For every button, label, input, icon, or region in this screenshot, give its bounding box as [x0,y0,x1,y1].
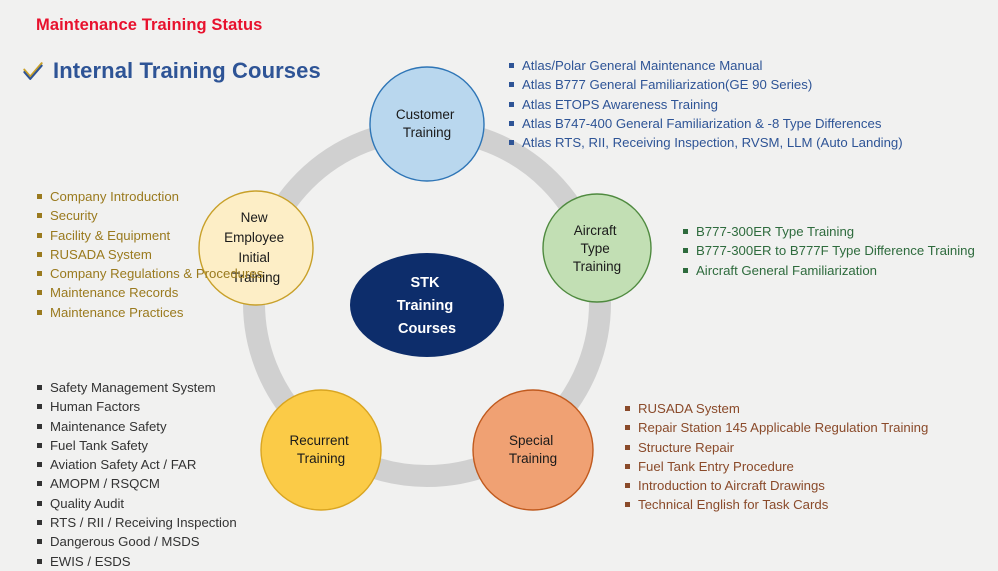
list-aircraft-type-training: B777-300ER Type Training B777-300ER to B… [682,222,975,280]
list-item: Company Introduction [36,187,263,206]
list-item: Quality Audit [36,494,237,513]
list-item: Company Regulations & Procedures [36,264,263,283]
list-item: AMOPM / RSQCM [36,474,237,493]
list-item: Facility & Equipment [36,226,263,245]
list-item: Atlas RTS, RII, Receiving Inspection, RV… [508,133,903,152]
list-item: Safety Management System [36,378,237,397]
section-title-text: Internal Training Courses [53,58,321,84]
list-item: Introduction to Aircraft Drawings [624,476,928,495]
list-item: Aircraft General Familiarization [682,261,975,280]
list-new-employee-initial-training: Company Introduction Security Facility &… [36,187,263,322]
list-item: Human Factors [36,397,237,416]
list-item: RUSADA System [624,399,928,418]
node-customer-training[interactable]: Customer Training [370,67,484,181]
list-item: RUSADA System [36,245,263,264]
list-item: Atlas B777 General Familiarization(GE 90… [508,75,903,94]
list-item: Atlas/Polar General Maintenance Manual [508,56,903,75]
list-item: Atlas B747-400 General Familiarization &… [508,114,903,133]
list-item: Maintenance Records [36,283,263,302]
node-aircraft-type-training[interactable]: Aircraft Type Training [543,194,651,302]
list-item: Fuel Tank Safety [36,436,237,455]
list-item: Maintenance Practices [36,303,263,322]
list-item: Technical English for Task Cards [624,495,928,514]
node-recurrent-training[interactable]: Recurrent Training [261,390,381,510]
section-heading: Internal Training Courses [22,58,321,84]
list-item: Fuel Tank Entry Procedure [624,457,928,476]
list-item: Structure Repair [624,438,928,457]
node-special-training[interactable]: Special Training [473,390,593,510]
list-item: Security [36,206,263,225]
list-special-training: RUSADA System Repair Station 145 Applica… [624,399,928,515]
list-item: Atlas ETOPS Awareness Training [508,95,903,114]
slide-canvas: Maintenance Training Status Internal Tra… [0,0,998,561]
list-item: RTS / RII / Receiving Inspection [36,513,237,532]
hub-stk-training-courses[interactable]: STK Training Courses [350,253,504,357]
list-item: B777-300ER to B777F Type Difference Trai… [682,241,975,260]
list-item: Aviation Safety Act / FAR [36,455,237,474]
list-item: Maintenance Safety [36,417,237,436]
check-icon [22,60,44,82]
list-item: EWIS / ESDS [36,552,237,571]
list-customer-training: Atlas/Polar General Maintenance Manual A… [508,56,903,152]
list-item: Repair Station 145 Applicable Regulation… [624,418,928,437]
list-recurrent-training: Safety Management System Human Factors M… [36,378,237,571]
list-item: B777-300ER Type Training [682,222,975,241]
page-title: Maintenance Training Status [36,16,262,35]
list-item: Dangerous Good / MSDS [36,532,237,551]
